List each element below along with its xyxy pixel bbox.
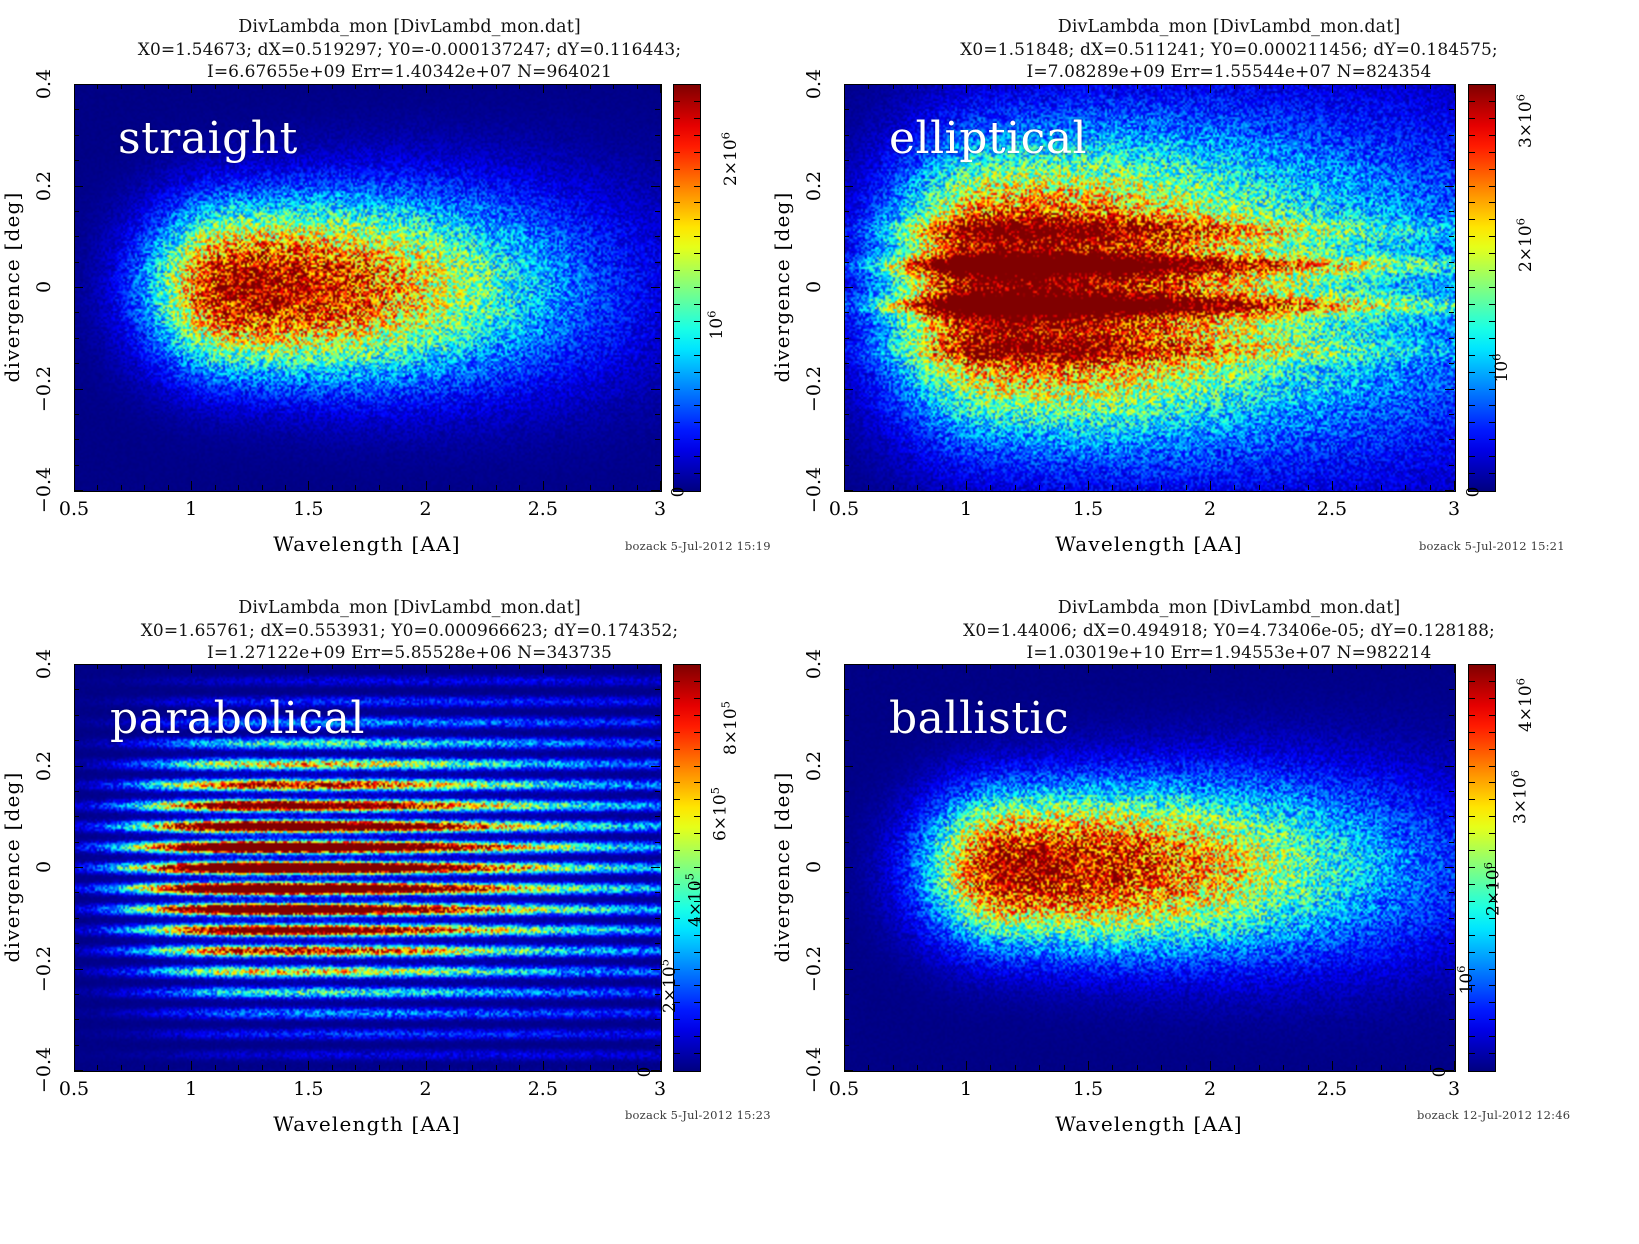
panel-title: DivLambda_mon [DivLambd_mon.dat] bbox=[0, 16, 819, 39]
x-axis-minor-tick bbox=[1186, 1065, 1187, 1070]
x-axis-minor-tick bbox=[868, 84, 869, 89]
colorbar-tick bbox=[674, 884, 680, 885]
x-axis-minor-tick bbox=[496, 84, 497, 89]
x-axis-minor-tick bbox=[519, 84, 520, 89]
x-axis-minor-tick bbox=[1356, 84, 1357, 89]
y-axis-minor-tick bbox=[1449, 918, 1454, 919]
x-axis-minor-tick bbox=[1259, 1065, 1260, 1070]
y-axis-minor-tick bbox=[655, 338, 660, 339]
colorbar-tick bbox=[1489, 439, 1495, 440]
x-axis-minor-tick bbox=[1259, 485, 1260, 490]
x-axis-tick bbox=[1088, 481, 1089, 490]
y-axis-tick-label: 0.2 bbox=[33, 750, 55, 780]
x-axis-minor-tick bbox=[1259, 84, 1260, 89]
x-axis-minor-tick bbox=[97, 664, 98, 669]
x-axis-minor-tick bbox=[144, 485, 145, 490]
x-axis-minor-tick bbox=[215, 1065, 216, 1070]
y-axis-tick bbox=[1445, 389, 1454, 390]
y-axis-minor-tick bbox=[655, 842, 660, 843]
x-axis-tick bbox=[1332, 1061, 1333, 1070]
colorbar-tick bbox=[1489, 782, 1495, 783]
panel-stats-line-2: I=6.67655e+09 Err=1.40342e+07 N=964021 bbox=[0, 61, 819, 83]
x-axis-minor-tick bbox=[1356, 1065, 1357, 1070]
y-axis-minor-tick bbox=[1449, 892, 1454, 893]
x-axis-minor-tick bbox=[1064, 84, 1065, 89]
colorbar-tick bbox=[674, 952, 680, 953]
x-axis-minor-tick bbox=[519, 1065, 520, 1070]
y-axis-minor-tick bbox=[74, 465, 79, 466]
colorbar-tick bbox=[1469, 101, 1475, 102]
colorbar-tick bbox=[674, 253, 680, 254]
colorbar-tick bbox=[1489, 473, 1495, 474]
x-axis-tick bbox=[660, 481, 661, 490]
y-axis-minor-tick bbox=[655, 816, 660, 817]
y-axis-minor-tick bbox=[655, 918, 660, 919]
colorbar-tick bbox=[674, 101, 680, 102]
y-axis-tick-label: −0.2 bbox=[33, 365, 55, 411]
y-axis-minor-tick bbox=[74, 994, 79, 995]
colorbar-tick bbox=[674, 405, 680, 406]
colorbar-tick bbox=[674, 715, 680, 716]
colorbar-tick bbox=[1469, 321, 1475, 322]
x-axis-minor-tick bbox=[1137, 664, 1138, 669]
x-axis-minor-tick bbox=[191, 664, 192, 669]
panel-header: DivLambda_mon [DivLambd_mon.dat] X0=1.51… bbox=[819, 16, 1639, 83]
colorbar-tick-label: 106 bbox=[707, 311, 735, 340]
colorbar-tick bbox=[1469, 405, 1475, 406]
x-axis-tick bbox=[426, 1061, 427, 1070]
colorbar-tick bbox=[694, 253, 700, 254]
x-axis-minor-tick bbox=[1283, 485, 1284, 490]
x-axis-tick-label: 3 bbox=[1448, 498, 1460, 520]
y-axis-tick-label: 0.2 bbox=[803, 170, 825, 200]
y-axis-minor-tick bbox=[1449, 211, 1454, 212]
x-axis-minor-tick bbox=[1283, 1065, 1284, 1070]
y-axis-tick bbox=[1445, 1070, 1454, 1071]
colorbar-tick bbox=[1469, 439, 1475, 440]
y-axis-tick bbox=[844, 766, 853, 767]
colorbar-tick bbox=[694, 389, 700, 390]
x-axis-minor-tick bbox=[942, 664, 943, 669]
x-axis-minor-tick bbox=[942, 1065, 943, 1070]
colorbar-tick bbox=[674, 782, 680, 783]
x-axis-minor-tick bbox=[1356, 485, 1357, 490]
colorbar-tick bbox=[694, 867, 700, 868]
y-axis-tick bbox=[74, 766, 83, 767]
y-axis-tick-label: −0.2 bbox=[803, 365, 825, 411]
x-axis-minor-tick bbox=[590, 664, 591, 669]
y-axis-minor-tick bbox=[1449, 689, 1454, 690]
x-axis-title: Wavelength [AA] bbox=[1055, 532, 1243, 556]
x-axis-tick bbox=[1088, 84, 1089, 93]
colorbar-tick bbox=[674, 918, 680, 919]
x-axis-tick bbox=[74, 481, 75, 490]
x-axis-minor-tick bbox=[893, 664, 894, 669]
x-axis-minor-tick bbox=[613, 1065, 614, 1070]
x-axis-minor-tick bbox=[355, 84, 356, 89]
y-axis-minor-tick bbox=[74, 1019, 79, 1020]
y-axis-tick bbox=[74, 389, 83, 390]
x-axis-minor-tick bbox=[990, 485, 991, 490]
y-axis-tick bbox=[74, 490, 83, 491]
colorbar-tick bbox=[674, 270, 680, 271]
colorbar-tick-label: 106 bbox=[1492, 354, 1540, 383]
heatmap-plot-area bbox=[74, 84, 662, 492]
colorbar-tick bbox=[1489, 698, 1495, 699]
colorbar-tick bbox=[1489, 952, 1495, 953]
x-axis-minor-tick bbox=[144, 664, 145, 669]
y-axis-minor-tick bbox=[844, 1019, 849, 1020]
x-axis-tick bbox=[308, 481, 309, 490]
y-axis-minor-tick bbox=[844, 892, 849, 893]
y-axis-minor-tick bbox=[655, 689, 660, 690]
y-axis-minor-tick bbox=[1449, 715, 1454, 716]
colorbar-tick bbox=[674, 935, 680, 936]
x-axis-tick-label: 2 bbox=[420, 498, 432, 520]
x-axis-minor-tick bbox=[262, 485, 263, 490]
colorbar-tick bbox=[1469, 338, 1475, 339]
y-axis-minor-tick bbox=[74, 715, 79, 716]
x-axis-minor-tick bbox=[893, 84, 894, 89]
x-axis-minor-tick bbox=[1405, 485, 1406, 490]
panel-stats-line-2: I=7.08289e+09 Err=1.55544e+07 N=824354 bbox=[819, 61, 1639, 83]
colorbar-tick bbox=[674, 321, 680, 322]
x-axis-minor-tick bbox=[1234, 664, 1235, 669]
y-axis-minor-tick bbox=[74, 236, 79, 237]
colorbar-tick bbox=[1489, 1002, 1495, 1003]
colorbar-tick bbox=[1489, 715, 1495, 716]
y-axis-tick bbox=[1445, 664, 1454, 665]
x-axis-minor-tick bbox=[893, 485, 894, 490]
x-axis-tick-label: 3 bbox=[654, 498, 666, 520]
x-axis-minor-tick bbox=[1186, 664, 1187, 669]
colorbar-tick bbox=[1489, 816, 1495, 817]
y-axis-tick bbox=[74, 186, 83, 187]
x-axis-minor-tick bbox=[1137, 84, 1138, 89]
colorbar-tick bbox=[674, 169, 680, 170]
x-axis-minor-tick bbox=[1039, 1065, 1040, 1070]
colorbar-tick bbox=[1489, 202, 1495, 203]
x-axis-minor-tick bbox=[1039, 84, 1040, 89]
colorbar-tick bbox=[1489, 850, 1495, 851]
x-axis-minor-tick bbox=[1137, 485, 1138, 490]
x-axis-tick bbox=[660, 664, 661, 673]
panel-elliptical: DivLambda_mon [DivLambd_mon.dat] X0=1.51… bbox=[819, 0, 1639, 597]
colorbar-tick bbox=[694, 473, 700, 474]
y-axis-tick bbox=[74, 664, 83, 665]
x-axis-minor-tick bbox=[1161, 485, 1162, 490]
x-axis-minor-tick bbox=[191, 84, 192, 89]
x-axis-tick-label: 1 bbox=[960, 498, 972, 520]
y-axis-minor-tick bbox=[844, 715, 849, 716]
colorbar-tick-label: 4×105 bbox=[685, 873, 756, 927]
x-axis-tick bbox=[1454, 481, 1455, 490]
x-axis-minor-tick bbox=[990, 1065, 991, 1070]
colorbar-tick bbox=[1469, 867, 1475, 868]
y-axis-tick-label: −0.4 bbox=[33, 467, 55, 513]
x-axis-tick bbox=[74, 1061, 75, 1070]
x-axis-minor-tick bbox=[168, 664, 169, 669]
y-axis-minor-tick bbox=[655, 312, 660, 313]
x-axis-tick bbox=[1210, 481, 1211, 490]
y-axis-tick-label: 0 bbox=[803, 281, 825, 293]
x-axis-minor-tick bbox=[449, 84, 450, 89]
y-axis-tick bbox=[651, 664, 660, 665]
x-axis-minor-tick bbox=[990, 664, 991, 669]
x-axis-tick bbox=[543, 84, 544, 93]
colorbar-tick bbox=[694, 698, 700, 699]
y-axis-tick bbox=[651, 766, 660, 767]
colorbar-tick bbox=[674, 186, 680, 187]
y-axis-minor-tick bbox=[1449, 994, 1454, 995]
x-axis-tick-label: 0.5 bbox=[59, 498, 89, 520]
colorbar-tick bbox=[1489, 287, 1495, 288]
y-axis-tick bbox=[844, 664, 853, 665]
colorbar-tick bbox=[1469, 236, 1475, 237]
colorbar-tick bbox=[674, 338, 680, 339]
x-axis-minor-tick bbox=[1039, 664, 1040, 669]
colorbar-tick bbox=[1469, 884, 1475, 885]
colorbar-tick bbox=[694, 681, 700, 682]
colorbar-tick bbox=[1469, 169, 1475, 170]
y-axis-tick bbox=[651, 1070, 660, 1071]
y-axis-minor-tick bbox=[655, 1045, 660, 1046]
x-axis-tick-label: 2 bbox=[1204, 498, 1216, 520]
colorbar-tick bbox=[1469, 152, 1475, 153]
colorbar-tick bbox=[674, 202, 680, 203]
x-axis-tick bbox=[1088, 664, 1089, 673]
x-axis-tick bbox=[426, 664, 427, 673]
x-axis-minor-tick bbox=[379, 1065, 380, 1070]
colorbar-tick bbox=[674, 732, 680, 733]
x-axis-tick bbox=[1332, 84, 1333, 93]
colorbar-tick bbox=[1489, 833, 1495, 834]
x-axis-tick bbox=[844, 664, 845, 673]
x-axis-minor-tick bbox=[1381, 664, 1382, 669]
colorbar-tick bbox=[1469, 219, 1475, 220]
x-axis-minor-tick bbox=[637, 1065, 638, 1070]
y-axis-minor-tick bbox=[655, 236, 660, 237]
colorbar-tick bbox=[694, 338, 700, 339]
x-axis-tick-label: 1.5 bbox=[1073, 1078, 1103, 1100]
colorbar-tick bbox=[694, 1053, 700, 1054]
y-axis-title: divergence [deg] bbox=[0, 771, 24, 962]
y-axis-tick bbox=[1445, 867, 1454, 868]
x-axis-minor-tick bbox=[942, 485, 943, 490]
y-axis-minor-tick bbox=[844, 338, 849, 339]
y-axis-minor-tick bbox=[1449, 338, 1454, 339]
colorbar-tick bbox=[1489, 186, 1495, 187]
colorbar-tick bbox=[694, 118, 700, 119]
y-axis-tick bbox=[844, 1070, 853, 1071]
panel-stats-line-2: I=1.03019e+10 Err=1.94553e+07 N=982214 bbox=[819, 642, 1639, 664]
y-axis-tick bbox=[651, 389, 660, 390]
y-axis-minor-tick bbox=[655, 211, 660, 212]
panel-title: DivLambda_mon [DivLambd_mon.dat] bbox=[819, 597, 1639, 620]
colorbar-tick bbox=[1469, 698, 1475, 699]
x-axis-minor-tick bbox=[1039, 485, 1040, 490]
x-axis-minor-tick bbox=[238, 664, 239, 669]
y-axis-minor-tick bbox=[74, 892, 79, 893]
panel-stats-line-1: X0=1.51848; dX=0.511241; Y0=0.000211456;… bbox=[819, 39, 1639, 61]
x-axis-minor-tick bbox=[966, 1065, 967, 1070]
colorbar-tick bbox=[674, 287, 680, 288]
heatmap-plot-area bbox=[74, 664, 662, 1072]
colorbar-tick bbox=[1489, 304, 1495, 305]
y-axis-minor-tick bbox=[655, 943, 660, 944]
y-axis-minor-tick bbox=[1449, 236, 1454, 237]
colorbar-tick bbox=[674, 867, 680, 868]
colorbar-tick bbox=[674, 1019, 680, 1020]
x-axis-minor-tick bbox=[1381, 485, 1382, 490]
x-axis-minor-tick bbox=[1430, 1065, 1431, 1070]
x-axis-minor-tick bbox=[1308, 1065, 1309, 1070]
x-axis-minor-tick bbox=[1430, 84, 1431, 89]
colorbar-tick bbox=[674, 118, 680, 119]
colorbar-tick bbox=[1469, 799, 1475, 800]
y-axis-tick-label: −0.4 bbox=[803, 1047, 825, 1093]
colorbar-tick bbox=[1469, 287, 1475, 288]
colorbar-tick-label: 0 bbox=[1430, 1067, 1602, 1078]
y-axis-tick bbox=[74, 287, 83, 288]
x-axis-minor-tick bbox=[332, 1065, 333, 1070]
x-axis-title: Wavelength [AA] bbox=[273, 532, 461, 556]
y-axis-tick bbox=[844, 84, 853, 85]
y-axis-minor-tick bbox=[655, 160, 660, 161]
x-axis-tick bbox=[1454, 84, 1455, 93]
colorbar-tick bbox=[674, 422, 680, 423]
colorbar-tick bbox=[1489, 389, 1495, 390]
colorbar-tick bbox=[694, 850, 700, 851]
colorbar-tick bbox=[1469, 833, 1475, 834]
y-axis-minor-tick bbox=[74, 816, 79, 817]
x-axis-minor-tick bbox=[566, 664, 567, 669]
colorbar-tick bbox=[694, 732, 700, 733]
x-axis-minor-tick bbox=[1064, 485, 1065, 490]
y-axis-minor-tick bbox=[844, 363, 849, 364]
y-axis-tick bbox=[1445, 969, 1454, 970]
x-axis-tick bbox=[1454, 1061, 1455, 1070]
colorbar-tick bbox=[674, 456, 680, 457]
x-axis-minor-tick bbox=[472, 664, 473, 669]
x-axis-minor-tick bbox=[215, 485, 216, 490]
colorbar-tick bbox=[1469, 715, 1475, 716]
x-axis-tick-label: 2.5 bbox=[1317, 1078, 1347, 1100]
x-axis-minor-tick bbox=[917, 664, 918, 669]
colorbar-tick bbox=[674, 833, 680, 834]
colorbar-tick-label: 2×105 bbox=[660, 959, 782, 1013]
colorbar-tick bbox=[694, 236, 700, 237]
y-axis-minor-tick bbox=[844, 312, 849, 313]
y-axis-minor-tick bbox=[1449, 160, 1454, 161]
y-axis-minor-tick bbox=[74, 943, 79, 944]
panel-header: DivLambda_mon [DivLambd_mon.dat] X0=1.65… bbox=[0, 597, 819, 664]
colorbar-tick bbox=[694, 101, 700, 102]
colorbar-tick bbox=[694, 952, 700, 953]
colorbar-tick bbox=[1469, 901, 1475, 902]
x-axis-minor-tick bbox=[1015, 1065, 1016, 1070]
x-axis-minor-tick bbox=[168, 84, 169, 89]
x-axis-minor-tick bbox=[1405, 1065, 1406, 1070]
x-axis-minor-tick bbox=[449, 664, 450, 669]
x-axis-tick bbox=[74, 84, 75, 93]
x-axis-tick-label: 0.5 bbox=[59, 1078, 89, 1100]
y-axis-tick bbox=[74, 969, 83, 970]
colorbar-tick bbox=[694, 439, 700, 440]
colorbar-tick bbox=[1489, 422, 1495, 423]
colorbar-tick bbox=[1469, 270, 1475, 271]
y-axis-minor-tick bbox=[1449, 943, 1454, 944]
colorbar-tick bbox=[1469, 186, 1475, 187]
colorbar-tick bbox=[1469, 782, 1475, 783]
colorbar-tick bbox=[1469, 135, 1475, 136]
y-axis-tick-label: 0.4 bbox=[803, 69, 825, 99]
y-axis-tick bbox=[651, 867, 660, 868]
y-axis-minor-tick bbox=[655, 135, 660, 136]
x-axis-minor-tick bbox=[1161, 84, 1162, 89]
panel-straight: DivLambda_mon [DivLambd_mon.dat] X0=1.54… bbox=[0, 0, 819, 597]
x-axis-tick-label: 2 bbox=[420, 1078, 432, 1100]
colorbar-tick bbox=[694, 782, 700, 783]
colorbar-tick bbox=[694, 270, 700, 271]
x-axis-minor-tick bbox=[637, 664, 638, 669]
colorbar-tick-label: 3×106 bbox=[1511, 770, 1522, 824]
y-axis-tick-label: −0.2 bbox=[33, 945, 55, 991]
colorbar-tick bbox=[1489, 935, 1495, 936]
colorbar-tick bbox=[674, 439, 680, 440]
y-axis-minor-tick bbox=[844, 414, 849, 415]
x-axis-tick bbox=[1210, 664, 1211, 673]
colorbar-tick bbox=[674, 698, 680, 699]
y-axis-minor-tick bbox=[74, 791, 79, 792]
colorbar-tick bbox=[694, 169, 700, 170]
x-axis-minor-tick bbox=[238, 485, 239, 490]
colorbar-tick bbox=[694, 715, 700, 716]
y-axis-minor-tick bbox=[1449, 414, 1454, 415]
x-axis-minor-tick bbox=[990, 84, 991, 89]
y-axis-minor-tick bbox=[655, 109, 660, 110]
x-axis-minor-tick bbox=[496, 664, 497, 669]
x-axis-tick-label: 0.5 bbox=[829, 1078, 859, 1100]
panel-title: DivLambda_mon [DivLambd_mon.dat] bbox=[0, 597, 819, 620]
colorbar-tick bbox=[674, 1053, 680, 1054]
y-axis-tick-label: 0.4 bbox=[803, 649, 825, 679]
y-axis-minor-tick bbox=[655, 740, 660, 741]
x-axis-tick bbox=[74, 664, 75, 673]
colorbar-tick bbox=[694, 405, 700, 406]
y-axis-minor-tick bbox=[655, 1019, 660, 1020]
y-axis-minor-tick bbox=[844, 1045, 849, 1046]
heatmap-image bbox=[845, 85, 1455, 491]
x-axis-minor-tick bbox=[355, 664, 356, 669]
x-axis-tick-label: 2 bbox=[1204, 1078, 1216, 1100]
y-axis-minor-tick bbox=[74, 689, 79, 690]
heatmap-plot-area bbox=[844, 664, 1456, 1072]
colorbar-tick bbox=[674, 749, 680, 750]
x-axis-minor-tick bbox=[355, 485, 356, 490]
colorbar-tick bbox=[1489, 749, 1495, 750]
y-axis-tick bbox=[844, 287, 853, 288]
x-axis-minor-tick bbox=[613, 664, 614, 669]
colorbar-tick bbox=[1489, 236, 1495, 237]
x-axis-minor-tick bbox=[613, 485, 614, 490]
x-axis-minor-tick bbox=[1112, 1065, 1113, 1070]
colorbar-tick bbox=[1469, 389, 1475, 390]
x-axis-minor-tick bbox=[1430, 485, 1431, 490]
x-axis-tick-label: 1 bbox=[185, 1078, 197, 1100]
colorbar-tick bbox=[1469, 1019, 1475, 1020]
x-axis-minor-tick bbox=[868, 664, 869, 669]
